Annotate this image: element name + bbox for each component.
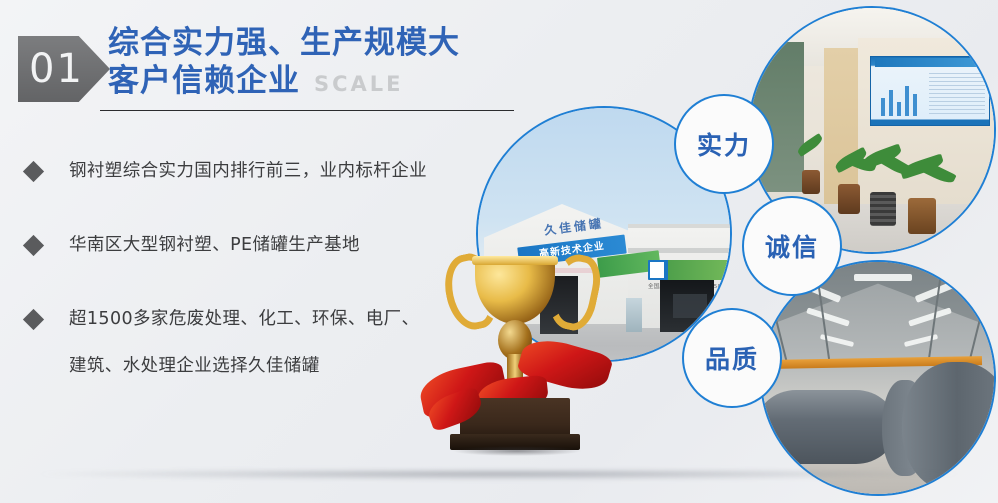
trophy-illustration	[424, 248, 606, 463]
badge-quality[interactable]: 品质	[684, 310, 780, 406]
badge-integrity-label: 诚信	[765, 228, 819, 264]
badge-integrity[interactable]: 诚信	[744, 198, 840, 294]
diamond-bullet-icon	[23, 309, 44, 330]
trophy-cup-lip	[472, 256, 558, 265]
badge-strength[interactable]: 实力	[676, 96, 772, 192]
factory-logo-mark	[650, 262, 664, 278]
heading-divider	[100, 110, 514, 111]
section-number: 01	[29, 49, 84, 89]
list-item-label: 华南区大型钢衬塑、PE储罐生产基地	[69, 222, 360, 269]
info-board-text-block	[929, 73, 985, 117]
office-info-board	[870, 56, 990, 126]
badge-strength-label: 实力	[697, 126, 751, 162]
photo-workshop	[762, 262, 994, 494]
factory-glass-booth	[626, 298, 642, 332]
list-item-label: 超1500多家危废处理、化工、环保、电厂、建筑、水处理企业选择久佳储罐	[69, 296, 429, 390]
heading-block: 综合实力强、生产规模大 客户信赖企业 SCALE	[108, 24, 528, 103]
info-board-header	[875, 58, 985, 67]
factory-sign-secondary	[648, 260, 730, 280]
list-item: 超1500多家危废处理、化工、环保、电厂、建筑、水处理企业选择久佳储罐	[18, 296, 488, 390]
section-number-badge: 01	[18, 36, 110, 102]
office-planter	[802, 170, 820, 194]
trophy-drop-shadow	[452, 446, 582, 456]
feature-list: 钢衬塑综合实力国内排行前三，业内标杆企业 华南区大型钢衬塑、PE储罐生产基地 超…	[18, 148, 488, 417]
info-board-bar	[897, 102, 901, 116]
office-planter	[870, 192, 896, 226]
heading-english: SCALE	[314, 65, 404, 103]
factory-door-interior	[673, 294, 707, 318]
heading-line-2: 客户信赖企业	[108, 62, 300, 100]
heading-line-1: 综合实力强、生产规模大	[108, 24, 528, 62]
list-item: 钢衬塑综合实力国内排行前三，业内标杆企业	[18, 148, 488, 195]
info-board-bar	[913, 94, 917, 116]
badge-quality-label: 品质	[705, 340, 759, 376]
baseline-shadow	[40, 470, 958, 480]
office-planter	[838, 184, 860, 214]
info-board-bar	[889, 90, 893, 116]
info-board-bar	[905, 86, 909, 116]
info-board-bar	[881, 98, 885, 116]
office-planter	[908, 198, 936, 234]
list-item-label: 钢衬塑综合实力国内排行前三，业内标杆企业	[69, 148, 427, 195]
diamond-bullet-icon	[23, 161, 44, 182]
diamond-bullet-icon	[23, 235, 44, 256]
workshop-skylight	[854, 274, 912, 281]
list-item: 华南区大型钢衬塑、PE储罐生产基地	[18, 222, 488, 269]
storage-tank-left	[762, 390, 896, 464]
promo-banner: 01 综合实力强、生产规模大 客户信赖企业 SCALE 钢衬塑综合实力国内排行前…	[0, 0, 998, 503]
